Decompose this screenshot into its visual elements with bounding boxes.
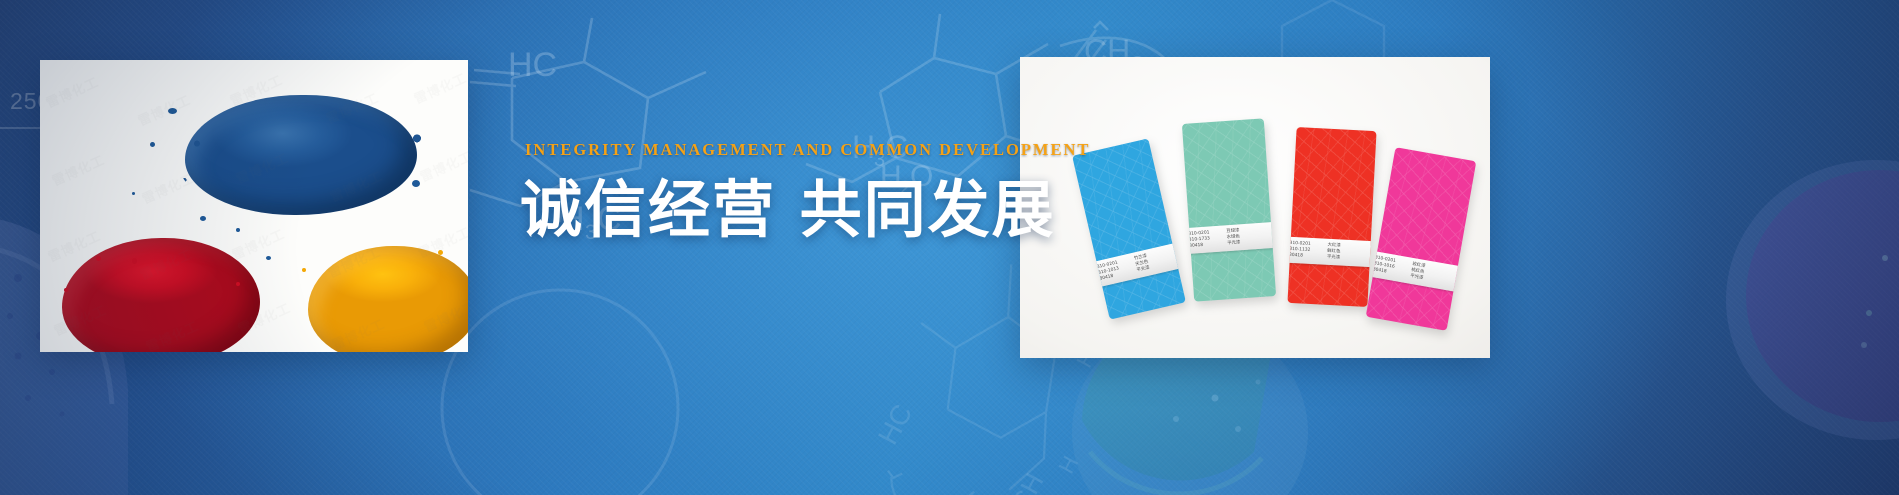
svg-text:HC: HC — [508, 46, 557, 84]
swatch-code: 80418 — [1289, 253, 1319, 261]
watermark-text: 雷博化工 — [233, 147, 292, 187]
svg-text:H: H — [1054, 452, 1084, 478]
svg-text:CH: CH — [1005, 468, 1049, 495]
watermark-text: 雷博化工 — [139, 167, 198, 207]
swatch-green: 310-0201豆绿漆 310-1733水绿色 80418平光漆 — [1182, 118, 1276, 301]
circle-arc-decoration — [442, 290, 678, 495]
watermark-text: 雷博化工 — [51, 299, 110, 339]
watermark-text: 雷博化工 — [421, 295, 468, 335]
watermark-text: 雷博化工 — [43, 71, 102, 111]
watermark-text: 雷博化工 — [135, 89, 194, 129]
swatch-name: 平光漆 — [1327, 255, 1340, 262]
watermark-text: 雷博化工 — [137, 243, 196, 283]
watermark-text: 雷博化工 — [235, 297, 294, 337]
photo-watermark-layer: 雷博化工 雷博化工 雷博化工 雷博化工 雷博化工 雷博化工 雷博化工 雷博化工 … — [40, 60, 468, 352]
swatch-texture — [1366, 147, 1477, 331]
pigment-powder-photo: 雷博化工 雷博化工 雷博化工 雷博化工 雷博化工 雷博化工 雷博化工 雷博化工 … — [40, 60, 468, 352]
banner-headline: 诚信经营 共同发展 — [520, 178, 1040, 242]
swatch-name: 平光漆 — [1136, 266, 1150, 275]
color-sample-cards-photo: 310-0201竹兰漆 310-1013天兰色 80418平光漆 310-020… — [1020, 57, 1490, 358]
watermark-text: 雷博化工 — [327, 165, 386, 205]
svg-text:HC: HC — [872, 399, 918, 449]
swatch-red: 310-0201大红漆 310-1132鲜红色 80418平光漆 — [1287, 127, 1376, 307]
watermark-text: 雷博化工 — [229, 223, 288, 263]
watermark-text: 雷博化工 — [415, 221, 468, 261]
banner-copy-block: INTEGRITY MANAGEMENT AND COMMON DEVELOPM… — [520, 140, 1040, 242]
banner-eyebrow-text: INTEGRITY MANAGEMENT AND COMMON DEVELOPM… — [525, 140, 1040, 160]
watermark-text: 雷博化工 — [329, 313, 388, 352]
watermark-text: 雷博化工 — [325, 241, 384, 281]
watermark-text: 雷博化工 — [417, 145, 468, 185]
watermark-text: 雷博化工 — [411, 67, 468, 107]
swatch-texture — [1072, 138, 1186, 319]
swatch-texture — [1287, 127, 1376, 307]
photo-left-content: 雷博化工 雷博化工 雷博化工 雷博化工 雷博化工 雷博化工 雷博化工 雷博化工 … — [40, 60, 468, 352]
promo-banner: HC H 3 C H 3 C CH 3 H 2 — [0, 0, 1899, 495]
swatch-code: 80418 — [1189, 242, 1219, 250]
swatch-texture — [1182, 118, 1276, 301]
watermark-text: 雷博化工 — [45, 225, 104, 265]
watermark-text: 雷博化工 — [323, 87, 382, 127]
photo-right-content: 310-0201竹兰漆 310-1013天兰色 80418平光漆 310-020… — [1020, 57, 1490, 358]
watermark-text: 雷博化工 — [49, 149, 108, 189]
swatch-blue: 310-0201竹兰漆 310-1013天兰色 80418平光漆 — [1072, 138, 1186, 319]
swatch-name: 平光漆 — [1227, 240, 1241, 247]
swatch-pink: 310-0201玫红漆 310-1016桃红色 80418平光漆 — [1366, 147, 1477, 331]
swatch-name: 平光漆 — [1410, 274, 1424, 282]
swatch-label-band: 310-0201大红漆 310-1132鲜红色 80418平光漆 — [1287, 236, 1376, 267]
purple-orb-decoration — [1726, 160, 1899, 440]
watermark-text: 雷博化工 — [143, 315, 202, 352]
watermark-text: 雷博化工 — [227, 69, 286, 109]
